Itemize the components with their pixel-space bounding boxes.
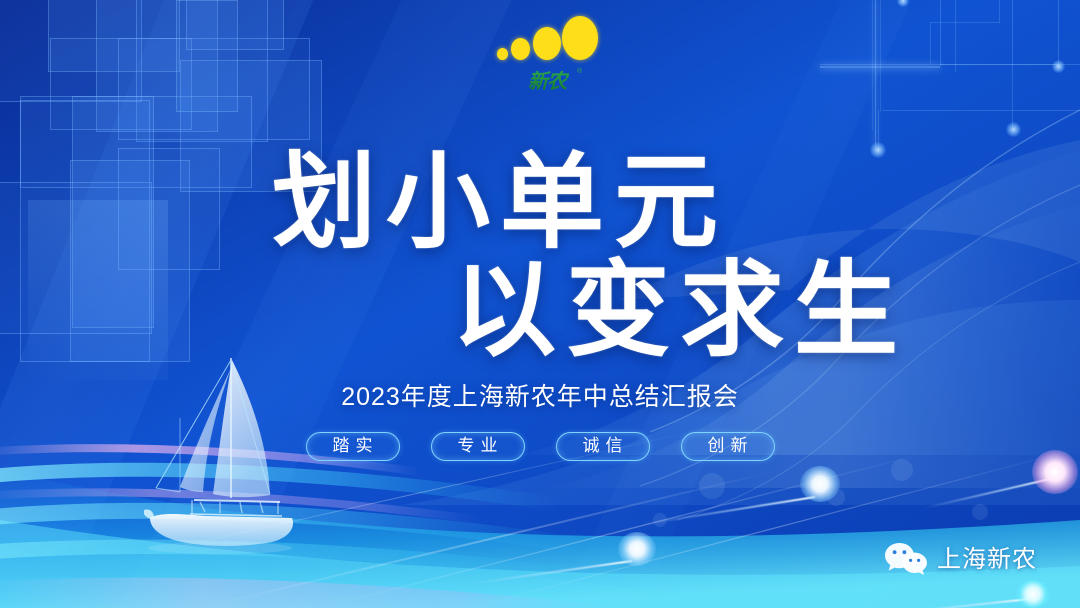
comet-3 <box>470 530 670 576</box>
headline-line-1: 划小单元 <box>272 152 728 256</box>
comet-4 <box>880 578 1060 608</box>
tag-pill[interactable]: 专业 <box>431 432 525 461</box>
logo-dot-1 <box>497 48 508 60</box>
tag-pill[interactable]: 踏实 <box>306 432 400 461</box>
event-subtitle: 2023年度上海新农年中总结汇报会 <box>0 382 1080 412</box>
tag-pill[interactable]: 诚信 <box>556 432 650 461</box>
comet-2 <box>640 462 850 512</box>
value-tags: 踏实 专业 诚信 创新 <box>0 432 1080 461</box>
headline-line-2: 以变求生 <box>452 260 908 364</box>
logo-dot-3 <box>533 27 561 60</box>
wechat-icon <box>884 541 928 579</box>
shanghai-xinnong-logo: 新农 ® <box>497 16 597 98</box>
wechat-account-name: 上海新农 <box>937 546 1037 574</box>
poster-canvas: 新农 ® <box>0 0 1080 608</box>
logo-wordmark: 新农 <box>516 70 578 94</box>
logo-dot-2 <box>511 38 530 60</box>
tag-pill[interactable]: 创新 <box>681 432 775 461</box>
sailboat-icon <box>120 352 350 572</box>
logo-dot-4 <box>562 16 598 60</box>
wechat-account[interactable]: 上海新农 <box>884 541 1037 579</box>
logo-registered-mark: ® <box>577 68 582 75</box>
